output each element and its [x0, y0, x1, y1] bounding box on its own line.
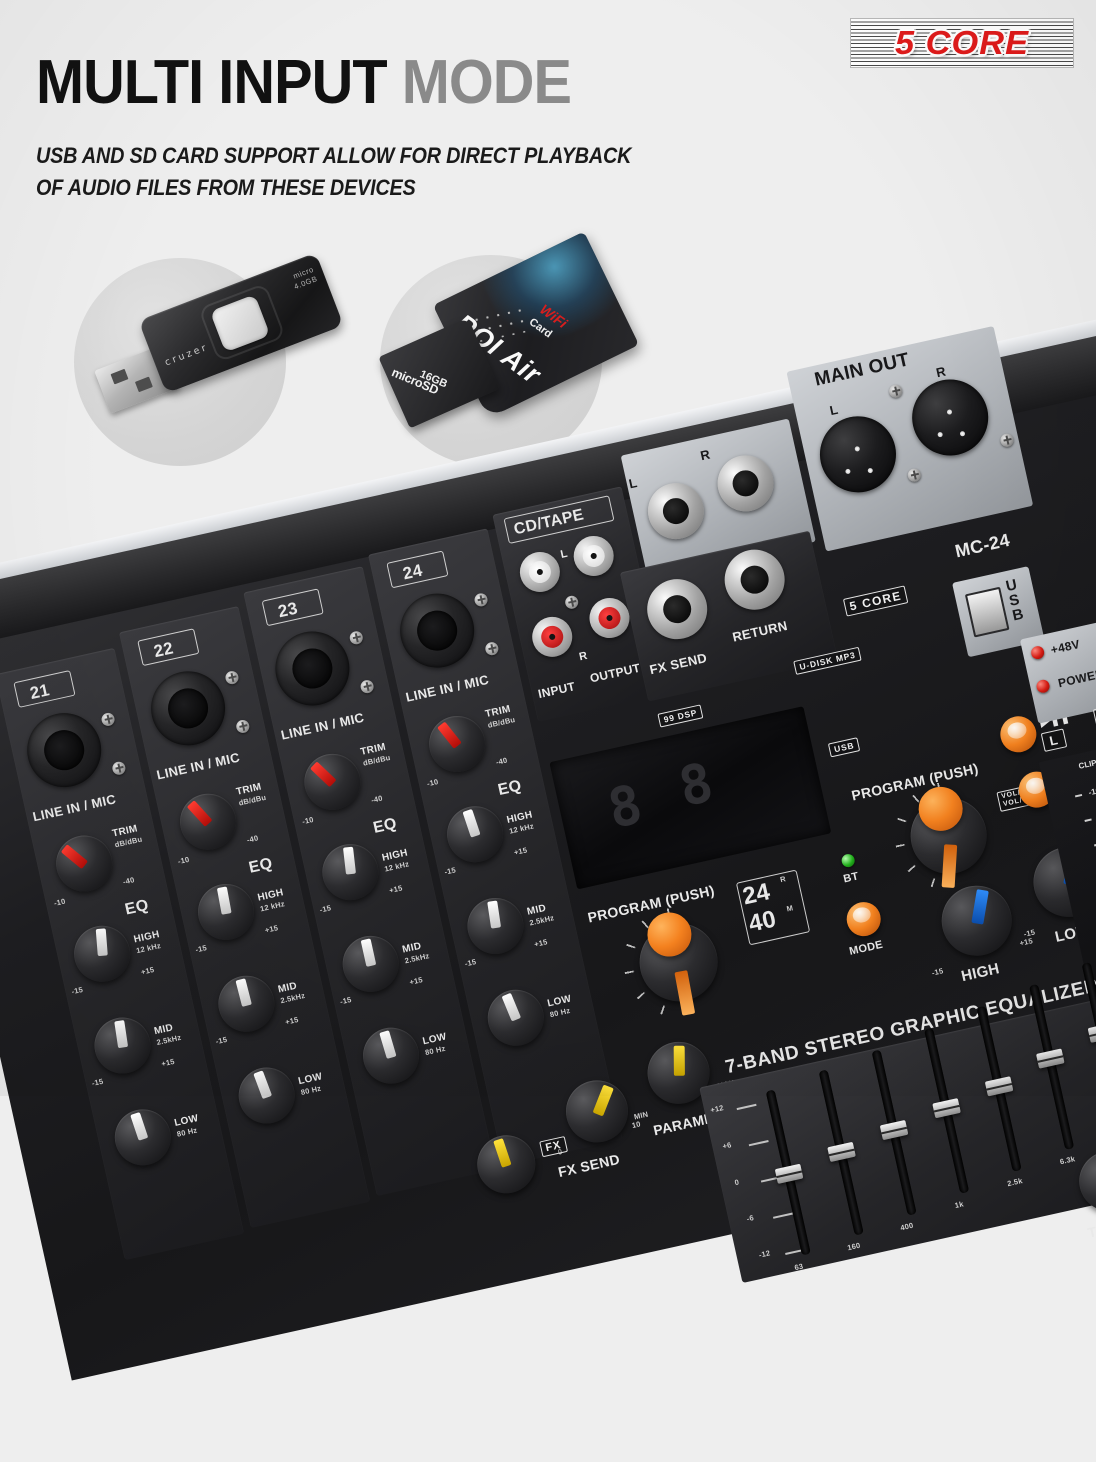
preset-badge-bottom: 40 [746, 905, 779, 938]
cd-tape-input-r-jack[interactable] [528, 613, 576, 661]
header-banner: MULTI INPUT MODE USB AND SD CARD SUPPORT… [0, 0, 1096, 230]
screw [564, 595, 580, 611]
brand-logo: 5 CORE [850, 18, 1074, 68]
eq-title-24: EQ [496, 777, 523, 800]
phantom-power-label: +48V [1049, 637, 1081, 657]
geq-scale-2: 0 [734, 1177, 740, 1187]
fx-send-knob-label: FX SEND [557, 1151, 622, 1180]
screw [907, 467, 923, 483]
bt-led [840, 853, 856, 869]
fx-send-jack[interactable] [641, 573, 713, 645]
master-eq-low-min: -15 [1023, 927, 1036, 938]
fx-send-label: FX SEND [648, 650, 708, 677]
master-eq-high-min: -15 [931, 966, 944, 977]
dsp-badge: 99 DSP [657, 704, 703, 727]
eq-mid-min-23: -15 [339, 995, 352, 1006]
usb-capacity-label: micro 4.0GB [289, 265, 319, 293]
main-out-r-label: R [935, 364, 948, 381]
graphic-eq-fader-63[interactable] [775, 1164, 804, 1184]
brand-logo-text: 5 CORE [847, 19, 1078, 67]
graphic-eq-fader-slot-6k3[interactable] [1029, 984, 1074, 1150]
eq-mid-min-22: -15 [215, 1035, 228, 1046]
eq-high-min-23: -15 [319, 903, 332, 914]
graphic-eq-fader-6k3[interactable] [1036, 1048, 1065, 1068]
eq-mid-max-23: +15 [409, 975, 424, 987]
eq-mid-max-24: +15 [533, 937, 548, 949]
eq-high-max-24: +15 [513, 845, 528, 857]
subtitle-line-2: OF AUDIO FILES FROM THESE DEVICES [36, 172, 631, 204]
screw [359, 679, 375, 695]
geq-scale-3: -6 [746, 1213, 755, 1223]
graphic-eq-fader-1k[interactable] [932, 1098, 961, 1118]
eq-mid-knob-22[interactable] [213, 970, 280, 1037]
graphic-eq-fader-160[interactable] [827, 1142, 856, 1162]
trim-knob-23[interactable] [299, 748, 366, 815]
screw [111, 761, 127, 777]
eq-high-knob-21[interactable] [69, 920, 136, 987]
dsp-digit-2: 8 [673, 750, 718, 819]
usb-flash-drive: cruzer micro 4.0GB [86, 272, 346, 452]
eq-mid-knob-23[interactable] [337, 930, 404, 997]
fx-send-l-jack[interactable] [643, 478, 710, 545]
eq-low-knob-23[interactable] [358, 1022, 425, 1089]
power-label: POWER [1057, 666, 1096, 690]
mode-label: MODE [848, 939, 884, 958]
main-out-block: MAIN OUT L R [786, 326, 1033, 552]
tape-label: TAPE [1086, 1217, 1096, 1241]
channel-number-22: 22 [152, 638, 175, 662]
fx-r-label: R [699, 447, 712, 464]
eq-mid-min-21: -15 [91, 1077, 104, 1088]
page-title: MULTI INPUT MODE [36, 52, 571, 114]
channel-input-label-23: LINE IN / MIC [279, 710, 365, 743]
screw [349, 630, 365, 646]
dsp-led-display: 8 8 [549, 706, 831, 889]
combo-jack-23[interactable] [268, 624, 356, 712]
master-eq-high-label: HIGH [960, 960, 1001, 985]
cd-tape-r-label: R [578, 650, 589, 664]
usb-brand-label: cruzer [163, 342, 209, 369]
play-pause-button[interactable] [997, 713, 1040, 756]
trim-min-24: -10 [426, 777, 439, 788]
mixer-brand-badge: 5 CORE [843, 585, 908, 616]
screw [235, 719, 251, 735]
trim-min-23: -10 [301, 815, 314, 826]
geq-band-63: 63 [794, 1262, 804, 1273]
fx-return-r-jack[interactable] [712, 450, 779, 517]
phantom-power-led [1030, 645, 1046, 661]
usb-port-icon[interactable] [965, 587, 1010, 638]
fx-return-label: RETURN [731, 618, 789, 645]
eq-mid-knob-24[interactable] [462, 893, 529, 960]
eq-low-knob-24[interactable] [482, 984, 549, 1051]
screw [100, 712, 116, 728]
cd-tape-input-label: INPUT [537, 679, 577, 701]
screw [484, 641, 500, 657]
eq-high-min-24: -15 [444, 865, 457, 876]
geq-scale-1: +6 [722, 1140, 733, 1151]
eq-high-max-21: +15 [140, 965, 155, 977]
trim-knob-24[interactable] [424, 711, 491, 778]
combo-jack-22[interactable] [144, 664, 232, 752]
trim-max-21: -40 [122, 875, 135, 886]
usb-port-label: USB [1005, 577, 1026, 623]
trim-max-22: -40 [246, 833, 259, 844]
eq-high-knob-24[interactable] [442, 801, 509, 868]
main-out-r-xlr[interactable] [905, 372, 996, 463]
cd-tape-output-l-jack[interactable] [570, 532, 618, 580]
channel-number-21: 21 [28, 680, 51, 704]
power-led [1035, 679, 1051, 695]
eq-high-min-22: -15 [195, 943, 208, 954]
trim-knob-21[interactable] [51, 830, 118, 897]
title-secondary: MODE [402, 48, 571, 117]
page-subtitle: USB AND SD CARD SUPPORT ALLOW FOR DIRECT… [36, 140, 631, 204]
usb-drive-body: cruzer micro 4.0GB [138, 253, 343, 394]
geq-band-160: 160 [847, 1241, 862, 1253]
screw [473, 592, 489, 608]
trim-min-22: -10 [177, 855, 190, 866]
main-out-l-xlr[interactable] [813, 409, 904, 500]
eq-low-knob-21[interactable] [109, 1104, 176, 1171]
channel-number-24: 24 [401, 561, 424, 585]
geq-band-2k5: 2.5k [1006, 1176, 1023, 1188]
main-out-l-label: L [828, 402, 839, 418]
fx-l-label: L [627, 475, 638, 491]
subtitle-line-1: USB AND SD CARD SUPPORT ALLOW FOR DIRECT… [36, 140, 631, 172]
eq-title-23: EQ [372, 815, 399, 838]
cd-tape-output-label: OUTPUT [589, 661, 642, 686]
graphic-eq-fader-400[interactable] [880, 1120, 909, 1140]
master-eq-high-knob[interactable] [935, 879, 1018, 962]
trim-max-23: -40 [370, 794, 383, 805]
geq-band-1k: 1k [954, 1199, 964, 1210]
geq-band-6k3: 6.3k [1059, 1154, 1076, 1166]
screw [999, 433, 1015, 449]
parameter-min: MIN [633, 1110, 649, 1122]
fx-return-jack[interactable] [719, 544, 791, 616]
eq-mid-min-24: -15 [464, 957, 477, 968]
bt-label: BT [842, 870, 860, 885]
mixer-control-surface: 21 LINE IN / MIC TRIM dB/dBu -10 -40 EQ … [0, 372, 1096, 1380]
mixer-model-number: MC-24 [953, 530, 1012, 563]
dsp-digit-1: 8 [602, 772, 647, 841]
eq-high-knob-22[interactable] [193, 879, 260, 946]
eq-title-21: EQ [123, 897, 150, 920]
eq-mid-max-21: +15 [160, 1057, 175, 1069]
eq-high-knob-23[interactable] [317, 839, 384, 906]
eq-mid-max-22: +15 [284, 1015, 299, 1027]
channel-number-23: 23 [276, 599, 299, 623]
eq-high-max-22: +15 [264, 923, 279, 935]
geq-scale-0: +12 [709, 1103, 724, 1115]
eq-title-22: EQ [247, 855, 274, 878]
eq-mid-knob-21[interactable] [89, 1012, 156, 1079]
channel-input-label-24: LINE IN / MIC [404, 672, 490, 705]
eq-high-max-23: +15 [388, 883, 403, 895]
screw [888, 383, 904, 399]
channel-input-label-22: LINE IN / MIC [155, 750, 241, 783]
graphic-eq-fader-16k[interactable] [1088, 1023, 1096, 1043]
eq-high-min-21: -15 [71, 985, 84, 996]
vu-scale-1: -10 [1088, 786, 1096, 797]
screw [224, 670, 240, 686]
trim-max-24: -40 [495, 756, 508, 767]
graphic-eq-fader-2k5[interactable] [985, 1076, 1014, 1096]
channel-input-label-21: LINE IN / MIC [31, 791, 117, 824]
trim-knob-22[interactable] [175, 788, 242, 855]
vu-scale-clip: CLIP [1078, 758, 1096, 771]
trim-min-21: -10 [53, 897, 66, 908]
usb-source-badge: USB [828, 737, 861, 757]
combo-jack-24[interactable] [393, 586, 481, 674]
vu-left-chip: L [1041, 728, 1067, 751]
title-primary: MULTI INPUT [36, 48, 387, 117]
combo-jack-21[interactable] [20, 706, 108, 794]
cd-tape-input-l-jack[interactable] [516, 548, 564, 596]
preset-badge-top-sub: R [779, 874, 786, 884]
geq-band-400: 400 [899, 1221, 914, 1233]
geq-scale-4: -12 [758, 1248, 771, 1259]
cd-tape-l-label: L [559, 548, 568, 561]
mode-button[interactable] [843, 899, 884, 940]
